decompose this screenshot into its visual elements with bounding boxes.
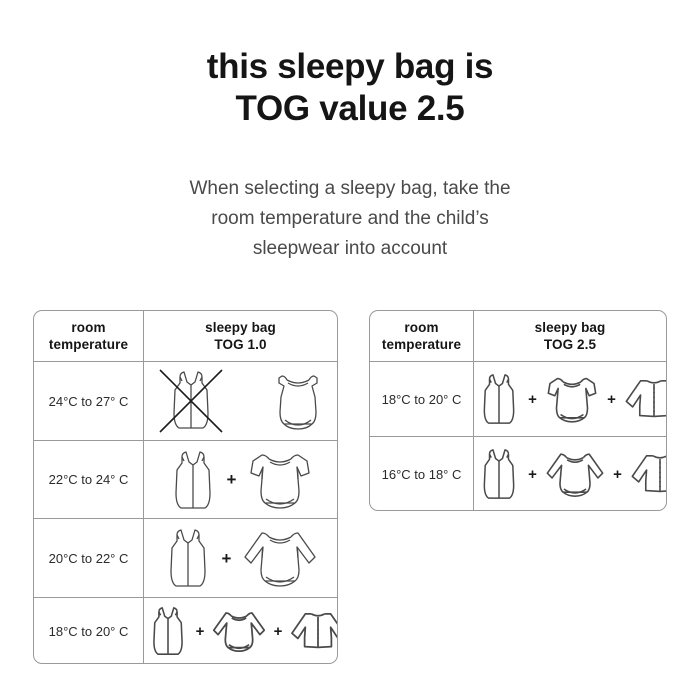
temperature-value: 20°C to 22° C [49, 551, 129, 566]
sleepwear-cell: + [144, 441, 337, 518]
page-subtitle-line-2: room temperature and the child’s [0, 204, 700, 234]
temperature-value: 24°C to 27° C [49, 394, 129, 409]
sleepy-bag-crossed-out-icon [151, 368, 231, 434]
sleepy-bag-icon [159, 526, 217, 590]
table-row: 24°C to 27° C [34, 362, 337, 441]
bodysuit-short-sleeve-icon [242, 449, 318, 511]
table-header-row: room temperature sleepy bag TOG 1.0 [34, 311, 337, 362]
page-subtitle-line-1: When selecting a sleepy bag, take the [0, 174, 700, 204]
header-sleepy-bag-line-2: TOG 2.5 [535, 336, 606, 353]
header-sleepy-bag-line-1: sleepy bag [535, 319, 606, 336]
table-row: 22°C to 24° C + [34, 441, 337, 519]
garment-group: + + [474, 370, 667, 428]
table-row: 18°C to 20° C + [370, 362, 666, 437]
header-room-temperature: room temperature [34, 311, 144, 361]
room-temperature-cell: 18°C to 20° C [370, 362, 474, 436]
sleepwear-cell: + + [144, 598, 338, 664]
header-room-temperature-line-2: temperature [49, 336, 128, 353]
plus-separator: + [222, 471, 242, 488]
temperature-value: 22°C to 24° C [49, 472, 129, 487]
plus-separator: + [524, 392, 541, 407]
room-temperature-cell: 20°C to 22° C [34, 519, 144, 597]
table-row: 20°C to 22° C + [34, 519, 337, 598]
room-temperature-cell: 22°C to 24° C [34, 441, 144, 518]
cardigan-icon [286, 604, 338, 658]
header-room-temperature: room temperature [370, 311, 474, 361]
cardigan-icon [626, 445, 667, 503]
table-header-row: room temperature sleepy bag TOG 2.5 [370, 311, 666, 362]
sleepy-bag-icon [474, 370, 524, 428]
header-room-temperature-line-2: temperature [382, 336, 461, 353]
header-sleepy-bag-line-1: sleepy bag [205, 319, 276, 336]
page-title-line-2: TOG value 2.5 [0, 88, 700, 130]
bodysuit-sleeveless-icon [265, 370, 331, 432]
header-sleepy-bag-tog: sleepy bag TOG 2.5 [474, 311, 666, 361]
tog-1-0-table: room temperature sleepy bag TOG 1.0 24°C… [33, 310, 338, 664]
bodysuit-long-sleeve-icon [237, 527, 323, 589]
room-temperature-cell: 16°C to 18° C [370, 437, 474, 511]
room-temperature-cell: 24°C to 27° C [34, 362, 144, 440]
page-title-line-1: this sleepy bag is [0, 46, 700, 88]
bodysuit-short-sleeve-icon [541, 370, 603, 428]
sleepwear-cell: + [144, 519, 337, 597]
page-subtitle: When selecting a sleepy bag, take the ro… [0, 174, 700, 264]
header-sleepy-bag-line-2: TOG 1.0 [205, 336, 276, 353]
plus-separator: + [192, 624, 208, 639]
garment-group: + [159, 526, 323, 590]
plus-separator: + [270, 624, 286, 639]
sleepwear-cell: + + [474, 437, 667, 511]
sleepy-bag-icon [144, 604, 192, 658]
table-row: 18°C to 20° C + [34, 598, 337, 664]
garment-group [151, 368, 331, 434]
sleepwear-cell [144, 362, 337, 440]
sleepy-bag-icon [164, 448, 222, 512]
sleepwear-cell: + + [474, 362, 667, 436]
sleepy-bag-icon [474, 445, 524, 503]
temperature-value: 18°C to 20° C [382, 392, 462, 407]
garment-group: + + [474, 445, 667, 503]
temperature-value: 18°C to 20° C [49, 624, 129, 639]
plus-separator: + [524, 467, 541, 482]
header-sleepy-bag-tog: sleepy bag TOG 1.0 [144, 311, 337, 361]
temperature-value: 16°C to 18° C [382, 467, 462, 482]
page-title: this sleepy bag is TOG value 2.5 [0, 46, 700, 130]
garment-group: + + [144, 604, 338, 658]
cardigan-icon [620, 370, 667, 428]
page-subtitle-line-3: sleepwear into account [0, 234, 700, 264]
plus-separator: + [609, 467, 626, 482]
bodysuit-long-sleeve-icon [208, 604, 270, 658]
room-temperature-cell: 18°C to 20° C [34, 598, 144, 664]
header-room-temperature-line-1: room [382, 319, 461, 336]
plus-separator: + [217, 550, 237, 567]
bodysuit-long-sleeve-icon [541, 445, 609, 503]
garment-group: + [164, 448, 318, 512]
plus-separator: + [603, 392, 620, 407]
table-row: 16°C to 18° C + [370, 437, 666, 511]
header-room-temperature-line-1: room [49, 319, 128, 336]
tog-2-5-table: room temperature sleepy bag TOG 2.5 18°C… [369, 310, 667, 511]
